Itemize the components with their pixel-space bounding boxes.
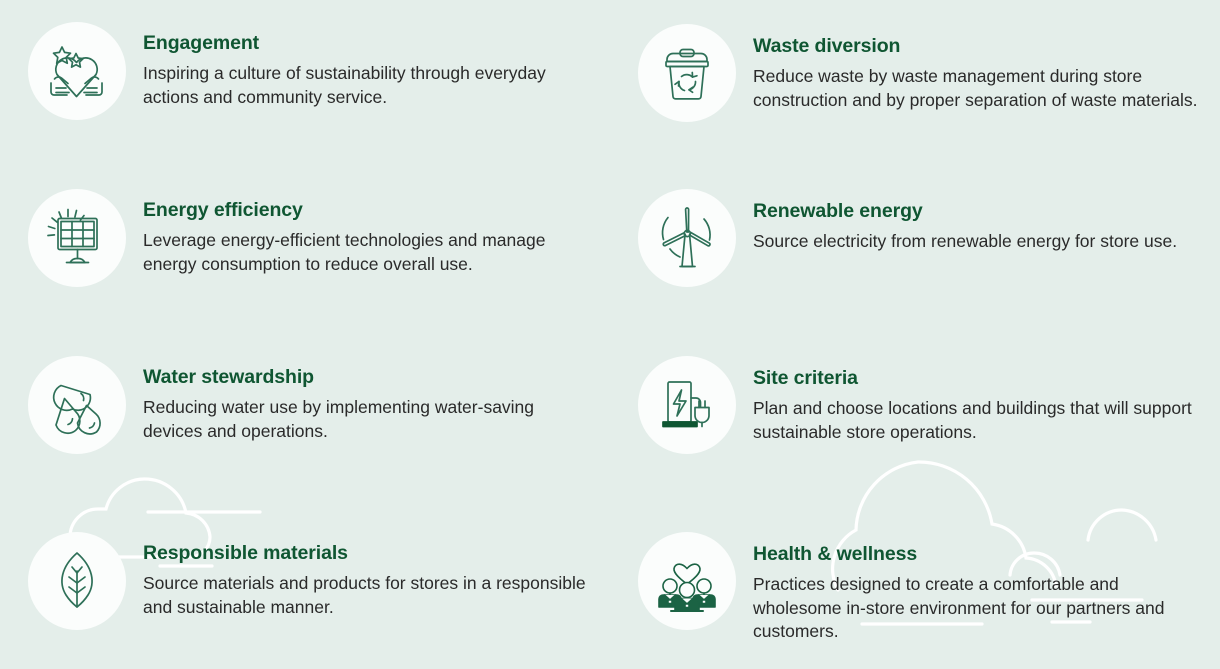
ev-charger-plug-icon — [638, 356, 736, 454]
card-title: Waste diversion — [753, 35, 1202, 57]
card-title: Health & wellness — [753, 543, 1202, 565]
water-droplets-icon — [28, 356, 126, 454]
card-energy-efficiency: Energy efficiency Leverage energy-effici… — [0, 167, 610, 334]
card-title: Engagement — [143, 32, 592, 54]
card-text: Health & wellness Practices designed to … — [753, 532, 1202, 643]
card-text: Site criteria Plan and choose locations … — [753, 356, 1202, 444]
sustainability-card-grid: Engagement Inspiring a culture of sustai… — [0, 0, 1220, 669]
card-site-criteria: Site criteria Plan and choose locations … — [610, 334, 1220, 510]
card-description: Source materials and products for stores… — [143, 572, 592, 619]
card-engagement: Engagement Inspiring a culture of sustai… — [0, 0, 610, 167]
card-text: Responsible materials Source materials a… — [143, 532, 592, 619]
card-description: Plan and choose locations and buildings … — [753, 397, 1202, 444]
card-text: Energy efficiency Leverage energy-effici… — [143, 189, 592, 276]
card-description: Reduce waste by waste management during … — [753, 65, 1202, 112]
card-title: Responsible materials — [143, 542, 592, 564]
card-description: Reducing water use by implementing water… — [143, 396, 592, 443]
card-text: Water stewardship Reducing water use by … — [143, 356, 592, 443]
waste-bin-recycle-icon — [638, 24, 736, 122]
card-description: Practices designed to create a comfortab… — [753, 573, 1202, 643]
card-title: Renewable energy — [753, 200, 1202, 222]
card-description: Leverage energy-efficient technologies a… — [143, 229, 592, 276]
card-responsible-materials: Responsible materials Source materials a… — [0, 510, 610, 669]
card-health-wellness: Health & wellness Practices designed to … — [610, 510, 1220, 669]
wind-turbine-icon — [638, 189, 736, 287]
card-description: Source electricity from renewable energy… — [753, 230, 1202, 253]
card-title: Water stewardship — [143, 366, 592, 388]
solar-panel-icon — [28, 189, 126, 287]
card-water-stewardship: Water stewardship Reducing water use by … — [0, 334, 610, 510]
heart-hands-stars-icon — [28, 22, 126, 120]
people-heart-icon — [638, 532, 736, 630]
card-description: Inspiring a culture of sustainability th… — [143, 62, 592, 109]
card-renewable-energy: Renewable energy Source electricity from… — [610, 167, 1220, 334]
card-text: Renewable energy Source electricity from… — [753, 189, 1202, 254]
card-text: Engagement Inspiring a culture of sustai… — [143, 22, 592, 109]
card-title: Energy efficiency — [143, 199, 592, 221]
card-waste-diversion: Waste diversion Reduce waste by waste ma… — [610, 0, 1220, 167]
leaf-icon — [28, 532, 126, 630]
card-title: Site criteria — [753, 367, 1202, 389]
card-text: Waste diversion Reduce waste by waste ma… — [753, 24, 1202, 112]
